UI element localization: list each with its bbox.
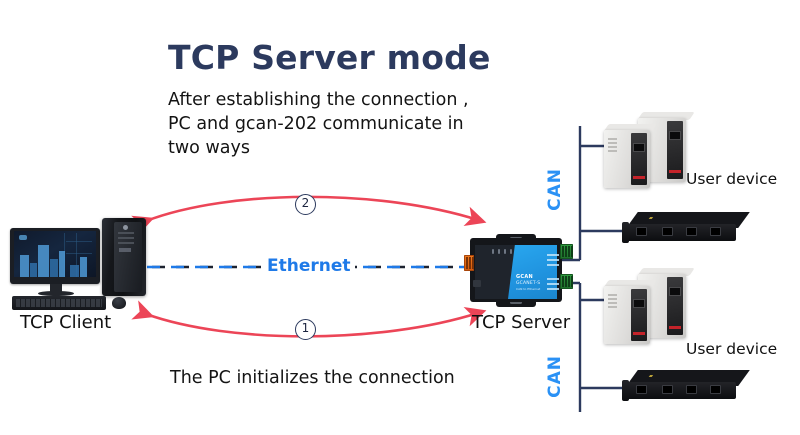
status-led — [498, 249, 500, 254]
screen-skyline — [20, 255, 29, 277]
device-model-text: GCANET-S — [516, 281, 540, 286]
screen-skyline — [70, 265, 79, 277]
step-badge-1: 1 — [295, 319, 316, 340]
step-badge-2: 2 — [295, 194, 316, 215]
pin-label — [547, 278, 559, 280]
module-port — [710, 227, 721, 236]
drive-warning-strip — [633, 176, 645, 179]
industrial-drive-icon — [600, 268, 720, 346]
drive-unit-front — [604, 130, 650, 188]
screen-grid-line — [66, 241, 92, 242]
tcp-server-label: TCP Server — [472, 312, 570, 333]
tower-drive-slot — [118, 232, 134, 234]
screen-skyline — [59, 251, 65, 277]
power-button-icon — [123, 225, 128, 230]
drive-vents — [608, 138, 617, 140]
module-port — [710, 385, 721, 394]
ethernet-label: Ethernet — [263, 256, 355, 276]
pin-label — [547, 259, 559, 261]
keyboard-keys — [16, 299, 102, 307]
drive-unit-front — [604, 286, 650, 344]
can-label-upper: CAN — [545, 168, 565, 211]
module-led — [649, 375, 653, 377]
user-device-label-upper: User device — [686, 170, 777, 188]
drive-control-panel — [631, 133, 647, 185]
ethernet-port — [473, 280, 481, 287]
drive-warning-strip — [633, 332, 645, 335]
drive-control-panel — [631, 289, 647, 341]
module-port — [662, 385, 673, 394]
can-terminal-green-1 — [560, 244, 573, 259]
monitor-icon — [10, 228, 100, 284]
tower-front-panel — [114, 222, 142, 292]
can-module-icon — [622, 212, 750, 252]
drive-vents — [608, 294, 617, 296]
drive-control-panel — [667, 277, 683, 335]
tower-drive-slot — [118, 237, 134, 239]
pin-label — [547, 288, 559, 290]
subtitle-text: After establishing the connection , PC a… — [168, 88, 528, 160]
monitor-screen — [14, 231, 96, 277]
module-port — [686, 385, 697, 394]
module-led — [649, 217, 653, 219]
drive-display — [633, 143, 645, 152]
status-led — [492, 249, 494, 254]
diagram-canvas: TCP Server mode After establishing the c… — [0, 0, 800, 435]
screen-skyline — [30, 263, 37, 277]
module-side-face — [622, 380, 629, 401]
tower-badge — [119, 248, 131, 252]
power-terminal-orange — [464, 255, 474, 271]
tower-drive-slot — [118, 242, 134, 244]
pin-label — [547, 283, 559, 285]
screen-skyline — [80, 257, 87, 277]
pin-label — [547, 264, 559, 266]
device-brand-text: GCAN — [516, 274, 533, 280]
device-sub-text: CAN to Ethernet — [516, 287, 540, 291]
status-led — [510, 249, 512, 254]
page-title: TCP Server mode — [168, 38, 491, 77]
drive-warning-strip — [669, 326, 681, 329]
screen-logo — [19, 235, 27, 240]
gcan-converter-icon: GCAN GCANET-S CAN to Ethernet — [470, 236, 562, 304]
module-front-face — [624, 382, 736, 399]
mouse-icon — [112, 297, 126, 309]
can-label-lower: CAN — [545, 355, 565, 398]
drive-display — [669, 287, 681, 296]
can-module-icon — [622, 370, 750, 410]
drive-display — [669, 131, 681, 140]
pc-tower-icon — [102, 218, 146, 296]
screen-skyline — [38, 245, 49, 277]
module-port — [636, 227, 647, 236]
drive-warning-strip — [669, 170, 681, 173]
converter-chassis: GCAN GCANET-S CAN to Ethernet — [470, 238, 562, 302]
tcp-client-label: TCP Client — [20, 312, 111, 333]
module-port — [686, 227, 697, 236]
drive-control-panel — [667, 121, 683, 179]
module-front-face — [624, 224, 736, 241]
can-terminal-green-2 — [560, 274, 573, 289]
bottom-caption: The PC initializes the connection — [170, 368, 455, 388]
status-led — [504, 249, 506, 254]
module-side-face — [622, 222, 629, 243]
module-port — [662, 227, 673, 236]
user-device-label-lower: User device — [686, 340, 777, 358]
screen-skyline — [50, 259, 58, 277]
drive-display — [633, 299, 645, 308]
module-port — [636, 385, 647, 394]
desktop-computer-icon — [8, 228, 148, 310]
keyboard-icon — [12, 296, 106, 310]
screen-grid-line — [66, 253, 92, 254]
pin-label — [547, 254, 559, 256]
